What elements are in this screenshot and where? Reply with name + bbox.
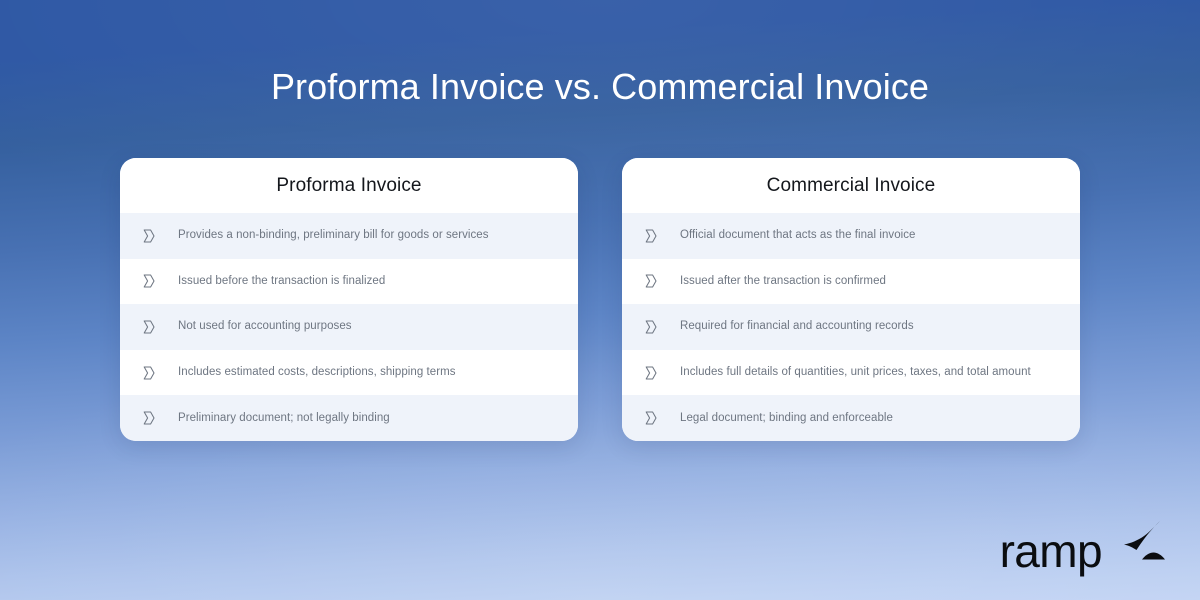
chevron-outline-icon — [640, 272, 680, 290]
comparison-cards: Proforma Invoice Provides a non-binding,… — [120, 158, 1080, 441]
chevron-outline-icon — [138, 318, 178, 336]
list-item: Required for financial and accounting re… — [622, 304, 1080, 350]
card-header: Commercial Invoice — [622, 158, 1080, 213]
list-item: Provides a non-binding, preliminary bill… — [120, 213, 578, 259]
card-title: Commercial Invoice — [767, 175, 936, 197]
list-item: Issued after the transaction is confirme… — [622, 259, 1080, 305]
list-item-label: Official document that acts as the final… — [680, 228, 916, 243]
list-item: Official document that acts as the final… — [622, 213, 1080, 259]
list-item: Not used for accounting purposes — [120, 304, 578, 350]
ramp-swoosh-icon — [1116, 519, 1166, 570]
chevron-outline-icon — [640, 227, 680, 245]
list-item: Includes estimated costs, descriptions, … — [120, 350, 578, 396]
card-proforma-invoice: Proforma Invoice Provides a non-binding,… — [120, 158, 578, 441]
page-title: Proforma Invoice vs. Commercial Invoice — [0, 64, 1200, 110]
list-item-label: Includes estimated costs, descriptions, … — [178, 365, 456, 380]
chevron-outline-icon — [138, 409, 178, 427]
chevron-outline-icon — [138, 227, 178, 245]
card-header: Proforma Invoice — [120, 158, 578, 213]
ramp-logo: ramp — [1000, 519, 1166, 574]
list-item: Legal document; binding and enforceable — [622, 395, 1080, 441]
chevron-outline-icon — [138, 364, 178, 382]
card-title: Proforma Invoice — [276, 175, 421, 197]
chevron-outline-icon — [640, 409, 680, 427]
chevron-outline-icon — [640, 364, 680, 382]
list-item-label: Legal document; binding and enforceable — [680, 411, 893, 426]
list-item-label: Not used for accounting purposes — [178, 319, 352, 334]
list-item-label: Provides a non-binding, preliminary bill… — [178, 228, 489, 243]
card-commercial-invoice: Commercial Invoice Official document tha… — [622, 158, 1080, 441]
card-row-list: Official document that acts as the final… — [622, 213, 1080, 441]
list-item: Preliminary document; not legally bindin… — [120, 395, 578, 441]
list-item: Issued before the transaction is finaliz… — [120, 259, 578, 305]
list-item-label: Issued after the transaction is confirme… — [680, 274, 886, 289]
ramp-wordmark: ramp — [1000, 528, 1102, 574]
list-item-label: Preliminary document; not legally bindin… — [178, 411, 390, 426]
list-item-label: Issued before the transaction is finaliz… — [178, 274, 385, 289]
list-item-label: Includes full details of quantities, uni… — [680, 365, 1031, 380]
chevron-outline-icon — [138, 272, 178, 290]
list-item-label: Required for financial and accounting re… — [680, 319, 914, 334]
chevron-outline-icon — [640, 318, 680, 336]
list-item: Includes full details of quantities, uni… — [622, 350, 1080, 396]
card-row-list: Provides a non-binding, preliminary bill… — [120, 213, 578, 441]
